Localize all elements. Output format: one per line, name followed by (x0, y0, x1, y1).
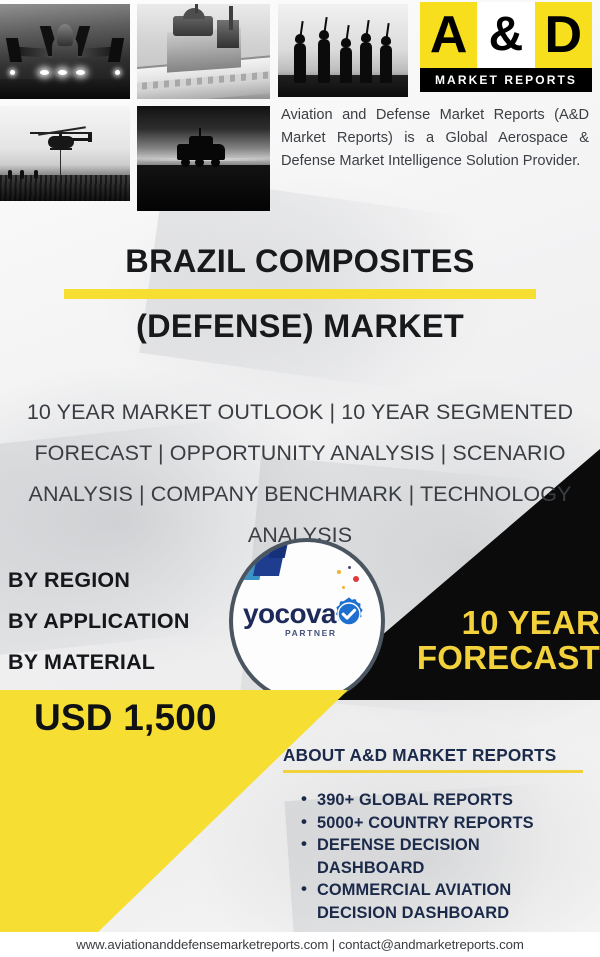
deck-shape (0, 79, 130, 99)
radar-dome (183, 8, 205, 19)
footer-contact-text: www.aviationanddefensemarketreports.com … (76, 937, 523, 952)
light-glow (40, 70, 49, 75)
forecast-line-2: FORECAST (404, 641, 600, 676)
antenna-shape (195, 4, 198, 13)
bridge-block (173, 16, 213, 36)
photo-fighter-jet-on-carrier-deck (0, 4, 130, 99)
verified-check-icon (331, 596, 367, 632)
report-features-text: 10 YEAR MARKET OUTLOOK | 10 YEAR SEGMENT… (14, 392, 586, 556)
about-panel: ABOUT A&D MARKET REPORTS 390+ GLOBAL REP… (283, 745, 591, 924)
logo-letter-d: D (535, 2, 592, 68)
armored-vehicle-gun (199, 128, 201, 138)
segmentation-item-material: BY MATERIAL (8, 642, 248, 683)
photo-armored-vehicle-at-dusk (137, 106, 270, 211)
soldier-silhouette (318, 39, 330, 83)
wheel-shape (211, 158, 220, 167)
about-bullet-item: 390+ GLOBAL REPORTS (317, 789, 591, 812)
about-heading: ABOUT A&D MARKET REPORTS (283, 745, 591, 766)
decorative-dot (348, 566, 351, 569)
hull-detail (137, 70, 270, 90)
soldier-silhouette (380, 45, 392, 83)
segmentation-item-application: BY APPLICATION (8, 601, 248, 642)
about-bullet-item: 5000+ COUNTRY REPORTS (317, 812, 591, 835)
yocova-partner-badge: yocova PARTNER (229, 538, 385, 704)
light-glow (10, 70, 15, 75)
photo-naval-warship (137, 4, 270, 99)
company-intro-paragraph: Aviation and Defense Market Reports (A&D… (281, 104, 589, 173)
nose-shape (57, 24, 73, 46)
forecast-badge: 10 YEAR FORECAST (404, 606, 600, 675)
landing-skid (50, 148, 72, 150)
terrain-shape (137, 165, 270, 211)
funnel-block (217, 20, 239, 48)
light-glow (115, 70, 120, 75)
logo-letter-row: A & D (420, 2, 592, 68)
wingtip-left-shape (6, 38, 22, 62)
soldier-silhouette (340, 47, 352, 83)
report-title-line-1: BRAZIL COMPOSITES (0, 243, 600, 279)
wheel-shape (195, 158, 204, 167)
about-heading-underline (283, 770, 583, 773)
report-cover-poster: A & D MARKET REPORTS Aviation and Defens… (0, 0, 600, 957)
decorative-dot (337, 570, 341, 574)
price-label: USD 1,500 (34, 697, 314, 739)
rope-shape (60, 150, 61, 176)
ad-market-reports-logo: A & D MARKET REPORTS (420, 2, 592, 94)
person-silhouette (8, 170, 12, 179)
logo-letter-a: A (420, 2, 477, 68)
light-glow (58, 70, 67, 75)
title-yellow-rule (64, 289, 536, 299)
wingtip-right-shape (108, 38, 124, 62)
rotor-blade (38, 126, 86, 135)
forecast-line-1: 10 YEAR (404, 606, 600, 641)
decorative-dot (342, 586, 345, 589)
photo-military-helicopter-over-field (0, 106, 130, 201)
report-title-block: BRAZIL COMPOSITES (DEFENSE) MARKET (0, 243, 600, 345)
soldier-silhouette (360, 42, 372, 83)
yocova-partner-label: PARTNER (285, 628, 337, 638)
photo-soldiers-silhouette (278, 4, 408, 97)
person-silhouette (34, 170, 38, 179)
segmentation-item-region: BY REGION (8, 560, 248, 601)
mast-shape (229, 6, 233, 30)
logo-ampersand: & (477, 2, 534, 68)
about-bullet-item: COMMERCIAL AVIATION DECISION DASHBOARD (317, 879, 591, 924)
logo-tagline-bar: MARKET REPORTS (420, 68, 592, 92)
about-bullet-item: DEFENSE DECISION DASHBOARD (317, 834, 591, 879)
report-title-line-2: (DEFENSE) MARKET (0, 308, 600, 344)
logo-tagline-text: MARKET REPORTS (435, 73, 577, 87)
field-shape (0, 175, 130, 201)
wheel-shape (181, 158, 190, 167)
person-silhouette (20, 170, 24, 179)
armored-vehicle-turret (189, 136, 213, 145)
light-glow (76, 70, 85, 75)
about-bullet-list: 390+ GLOBAL REPORTS 5000+ COUNTRY REPORT… (283, 789, 591, 924)
footer-bar: www.aviationanddefensemarketreports.com … (0, 932, 600, 957)
decorative-dot (353, 576, 359, 582)
soldier-silhouette (294, 43, 306, 83)
segmentation-list: BY REGION BY APPLICATION BY MATERIAL (8, 560, 248, 683)
